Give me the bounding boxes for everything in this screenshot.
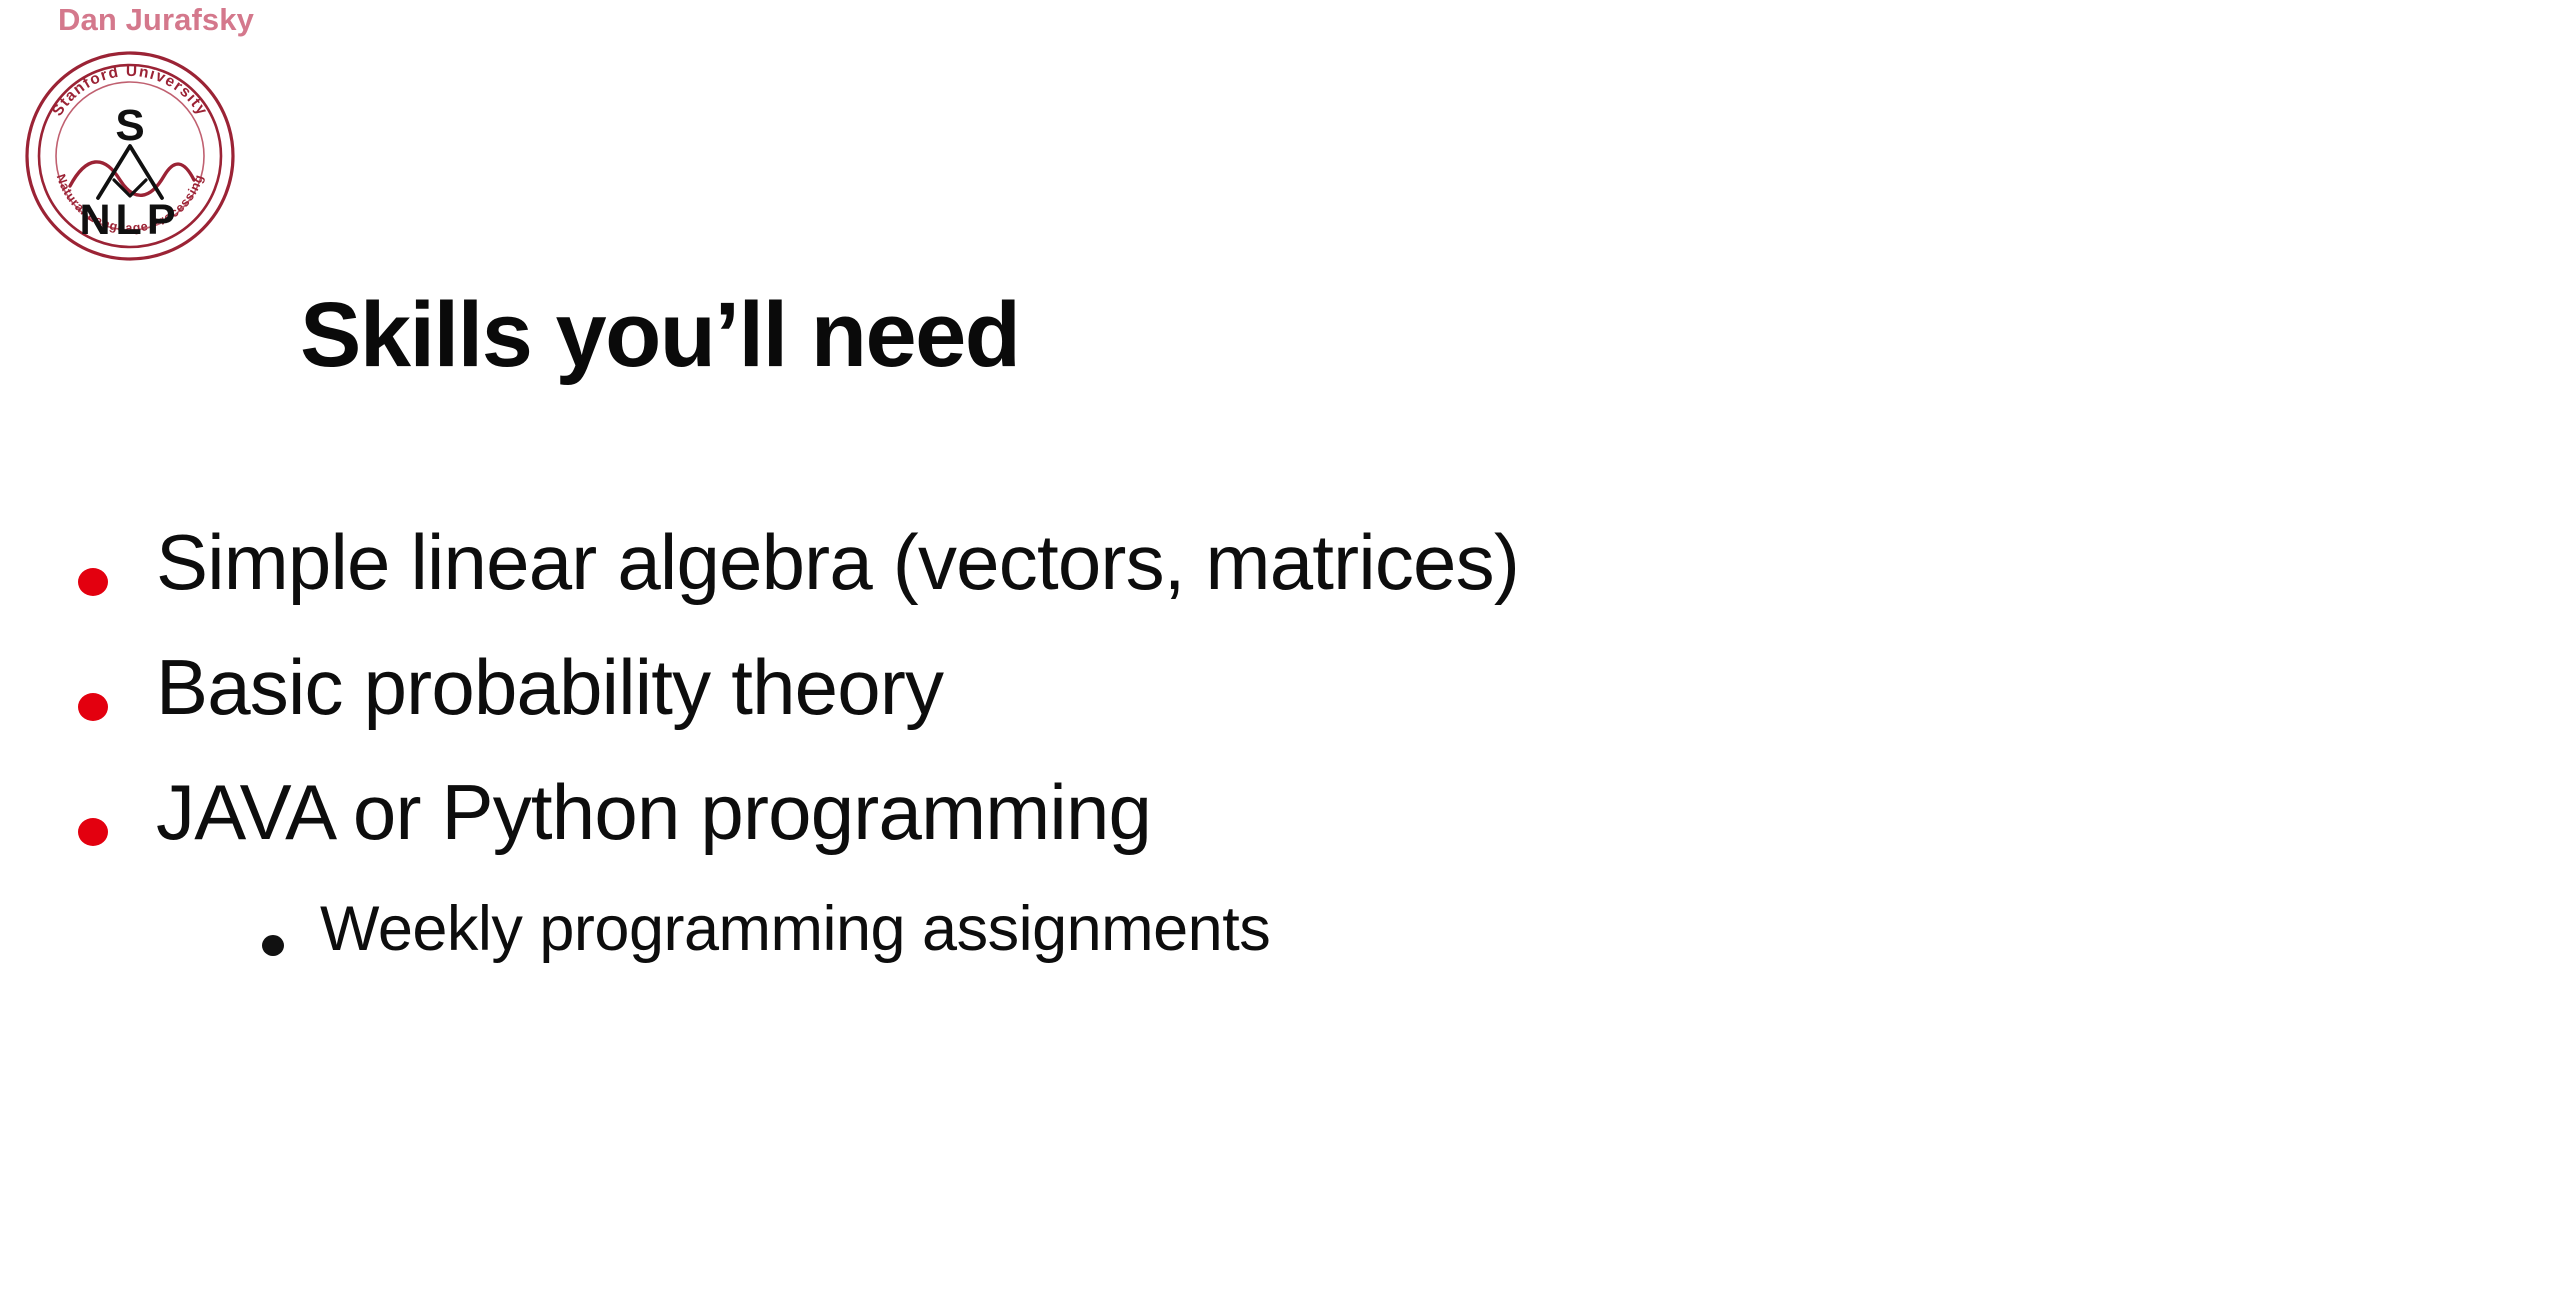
list-item-label: Simple linear algebra (vectors, matrices…	[156, 520, 1519, 604]
list-item-sub: Weekly programming assignments	[0, 895, 2566, 1013]
list-item: JAVA or Python programming	[0, 770, 2566, 895]
bullet-dot-icon	[78, 568, 108, 596]
logo-letters-nlp: NLP	[80, 196, 181, 244]
list-item-label: Basic probability theory	[156, 645, 943, 729]
list-item: Simple linear algebra (vectors, matrices…	[0, 520, 2566, 645]
stanford-nlp-logo-svg: Stanford University Natural Language Pro…	[22, 48, 238, 264]
slide-canvas: Dan Jurafsky Stanford University Natural…	[0, 0, 2566, 1292]
bullet-dot-icon	[78, 818, 108, 846]
bullet-dot-icon	[78, 693, 108, 721]
author-name: Dan Jurafsky	[58, 2, 254, 38]
page-title: Skills you’ll need	[300, 287, 2500, 384]
logo-peak-inner	[114, 180, 146, 196]
list-item-sub-label: Weekly programming assignments	[320, 895, 1270, 963]
sub-bullet-dot-icon	[262, 935, 284, 956]
list-item: Basic probability theory	[0, 645, 2566, 770]
bullet-list: Simple linear algebra (vectors, matrices…	[0, 520, 2566, 1013]
logo-letter-s: S	[115, 101, 144, 150]
logo-hills	[70, 162, 194, 195]
stanford-nlp-logo: Stanford University Natural Language Pro…	[22, 48, 238, 264]
list-item-label: JAVA or Python programming	[156, 770, 1151, 854]
